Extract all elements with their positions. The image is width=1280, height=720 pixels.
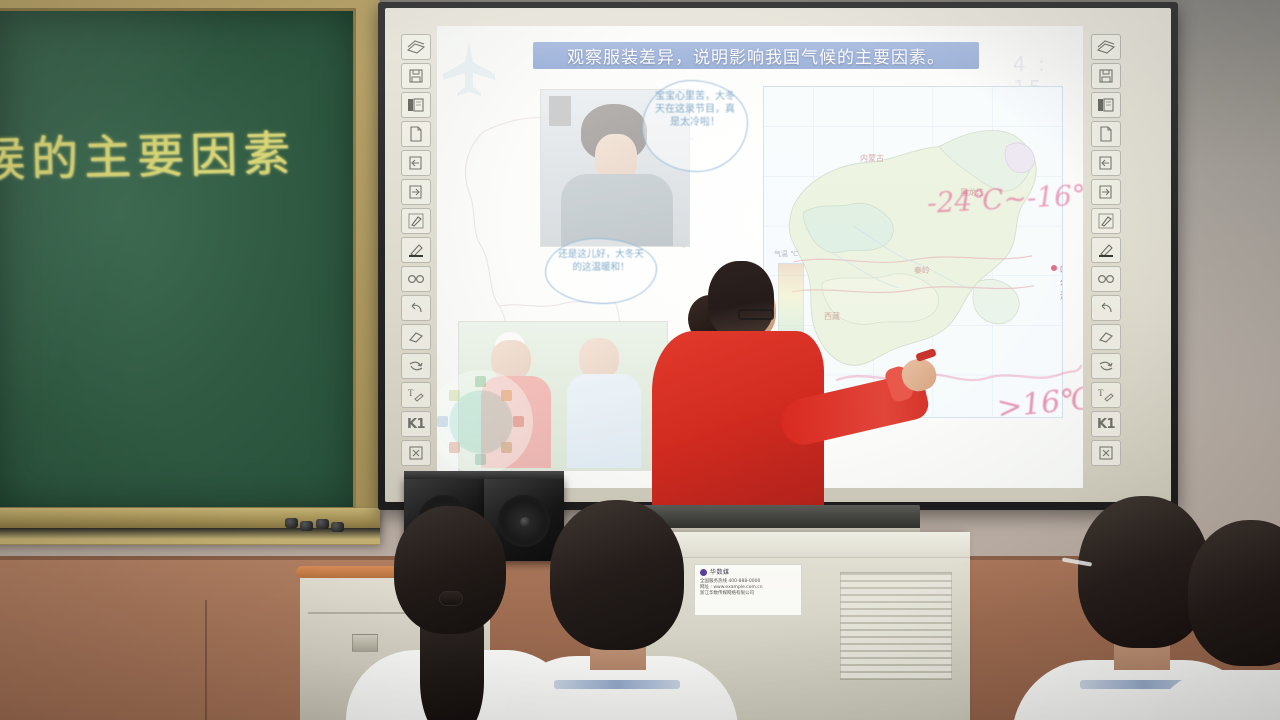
palette-swatch[interactable] xyxy=(449,390,460,401)
chalk-tray-shadow xyxy=(0,528,380,544)
student-head xyxy=(394,506,506,634)
speaker-top xyxy=(484,471,564,479)
whiteboard-toolbar-left[interactable]: T K1 xyxy=(398,34,434,466)
save-icon[interactable] xyxy=(1091,63,1121,89)
winter-speech-bubble: 宝宝心里苦，大冬天在这录节目，真是太冷啦！ xyxy=(642,80,748,172)
blackboard-surface[interactable] xyxy=(0,8,356,510)
student-head xyxy=(1188,520,1280,666)
spectacles-icon[interactable] xyxy=(1091,266,1121,292)
student-head xyxy=(550,500,684,650)
map-region-label: 内蒙古 xyxy=(860,153,884,164)
page-prev-icon[interactable] xyxy=(1091,150,1121,176)
eraser-icon[interactable] xyxy=(401,324,431,350)
student-collar-stripe xyxy=(554,680,680,689)
k1-mode-button[interactable]: K1 xyxy=(1091,411,1121,437)
copy-pages-icon[interactable] xyxy=(401,92,431,118)
harbin-marker-dot xyxy=(1051,265,1057,271)
redo-icon[interactable] xyxy=(401,353,431,379)
blackboard-chalk-text: 候的主要因素 xyxy=(0,115,297,191)
chalk-piece[interactable] xyxy=(300,521,313,531)
select-pen-icon[interactable] xyxy=(401,208,431,234)
student-boy-far-right xyxy=(1178,520,1280,720)
undo-icon[interactable] xyxy=(401,295,431,321)
teacher-hair xyxy=(708,261,774,339)
harbin-city-label: 哈尔滨 xyxy=(1060,263,1063,302)
ac-brand-name: 华数媒 xyxy=(710,570,730,576)
chalk-piece[interactable] xyxy=(316,519,329,529)
ac-label-line: 浙江华数传媒网络有限公司 xyxy=(700,591,796,597)
spectacles-icon[interactable] xyxy=(401,266,431,292)
text-tool-icon[interactable]: T xyxy=(401,382,431,408)
redo-icon[interactable] xyxy=(1091,353,1121,379)
speaker-top xyxy=(404,471,484,479)
whiteboard-toolbar-right[interactable]: T K1 xyxy=(1088,34,1124,466)
palette-swatch[interactable] xyxy=(475,454,486,465)
ac-vent-grille xyxy=(840,572,952,680)
text-tool-icon[interactable]: T xyxy=(1091,382,1121,408)
palette-swatch[interactable] xyxy=(501,442,512,453)
marker-pen-icon[interactable] xyxy=(1091,237,1121,263)
wall-panel-line xyxy=(205,600,207,720)
svg-text:T: T xyxy=(408,388,414,398)
classroom-scene: 候的主要因素 观察服装差异，说明影响我国气候的主要因素。 4 : 15 xyxy=(0,0,1280,720)
svg-text:T: T xyxy=(1098,388,1104,398)
blank-page-icon[interactable] xyxy=(1091,121,1121,147)
student-boy-center xyxy=(520,498,710,720)
palette-swatch[interactable] xyxy=(437,416,448,427)
hair-tie xyxy=(440,592,462,605)
slide-title: 观察服装差异，说明影响我国气候的主要因素。 xyxy=(533,42,979,69)
undo-icon[interactable] xyxy=(1091,295,1121,321)
teacher xyxy=(630,255,950,530)
marker-pen-icon[interactable] xyxy=(401,237,431,263)
blackboard-frame xyxy=(0,0,380,545)
chalk-piece[interactable] xyxy=(331,522,344,532)
page-next-icon[interactable] xyxy=(1091,179,1121,205)
ac-brand-label: 华数媒 全国服务热线 400-888-0000 网址 : www.example… xyxy=(694,564,802,616)
eraser-icon[interactable] xyxy=(1091,324,1121,350)
page-prev-icon[interactable] xyxy=(401,150,431,176)
select-pen-icon[interactable] xyxy=(1091,208,1121,234)
palette-swatch[interactable] xyxy=(501,390,512,401)
page-next-icon[interactable] xyxy=(401,179,431,205)
chalk-piece[interactable] xyxy=(285,518,298,528)
palette-swatch[interactable] xyxy=(475,376,486,387)
teacher-glasses xyxy=(738,309,774,320)
close-icon[interactable] xyxy=(1091,440,1121,466)
blackboard-sheen xyxy=(0,11,353,507)
blank-page-icon[interactable] xyxy=(401,121,431,147)
books-icon[interactable] xyxy=(401,34,431,60)
k1-mode-button[interactable]: K1 xyxy=(401,411,431,437)
close-icon[interactable] xyxy=(401,440,431,466)
books-icon[interactable] xyxy=(1091,34,1121,60)
save-icon[interactable] xyxy=(401,63,431,89)
palette-swatch[interactable] xyxy=(513,416,524,427)
palette-swatch[interactable] xyxy=(449,442,460,453)
copy-pages-icon[interactable] xyxy=(1091,92,1121,118)
